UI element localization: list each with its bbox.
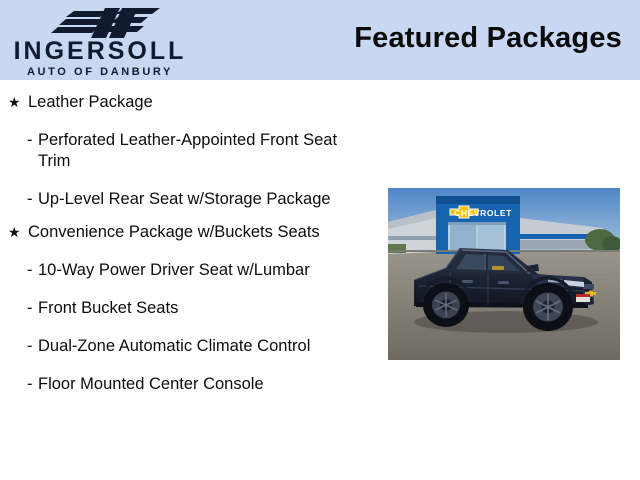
package-heading: ★ Leather Package xyxy=(0,92,372,113)
brand-subline: AUTO OF DANBURY xyxy=(0,66,200,78)
dash-marker: - xyxy=(27,298,33,319)
feature-text: Perforated Leather-Appointed Front Seat … xyxy=(27,130,366,172)
slide-root: INGERSOLL AUTO OF DANBURY Featured Packa… xyxy=(0,0,640,480)
package-name: Leather Package xyxy=(28,93,153,111)
dealer-sign-text: CHEVROLET xyxy=(454,208,512,218)
dash-marker: - xyxy=(27,130,33,151)
feature-text: Up-Level Rear Seat w/Storage Package xyxy=(27,189,366,210)
star-bullet-icon: ★ xyxy=(8,92,21,113)
feature-text: Floor Mounted Center Console xyxy=(27,374,366,395)
package-feature: - Floor Mounted Center Console xyxy=(0,374,372,395)
dash-marker: - xyxy=(27,260,33,281)
package-group: ★ Leather Package - Perforated Leather-A… xyxy=(0,92,372,210)
vehicle-photo: CHEVROLET xyxy=(388,188,620,360)
dash-marker: - xyxy=(27,374,33,395)
feature-text: Dual-Zone Automatic Climate Control xyxy=(27,336,366,357)
header-band: INGERSOLL AUTO OF DANBURY Featured Packa… xyxy=(0,0,640,80)
package-feature: - Dual-Zone Automatic Climate Control xyxy=(0,336,372,357)
dash-marker: - xyxy=(27,189,33,210)
feature-text: 10-Way Power Driver Seat w/Lumbar xyxy=(27,260,366,281)
package-group: ★ Convenience Package w/Buckets Seats - … xyxy=(0,222,372,395)
star-bullet-icon: ★ xyxy=(8,222,21,243)
package-feature: - Perforated Leather-Appointed Front Sea… xyxy=(0,130,372,172)
page-title: Featured Packages xyxy=(354,22,622,55)
dash-marker: - xyxy=(27,336,33,357)
feature-text: Front Bucket Seats xyxy=(27,298,366,319)
package-feature: - Up-Level Rear Seat w/Storage Package xyxy=(0,189,372,210)
package-heading: ★ Convenience Package w/Buckets Seats xyxy=(0,222,372,243)
package-name: Convenience Package w/Buckets Seats xyxy=(28,223,320,241)
packages-list: ★ Leather Package - Perforated Leather-A… xyxy=(0,80,372,480)
ingersoll-wing-emblem-icon xyxy=(48,6,166,40)
package-feature: - 10-Way Power Driver Seat w/Lumbar xyxy=(0,260,372,281)
package-feature: - Front Bucket Seats xyxy=(0,298,372,319)
brand-wordmark: INGERSOLL xyxy=(0,38,200,64)
brand-logo: INGERSOLL AUTO OF DANBURY xyxy=(0,2,210,80)
